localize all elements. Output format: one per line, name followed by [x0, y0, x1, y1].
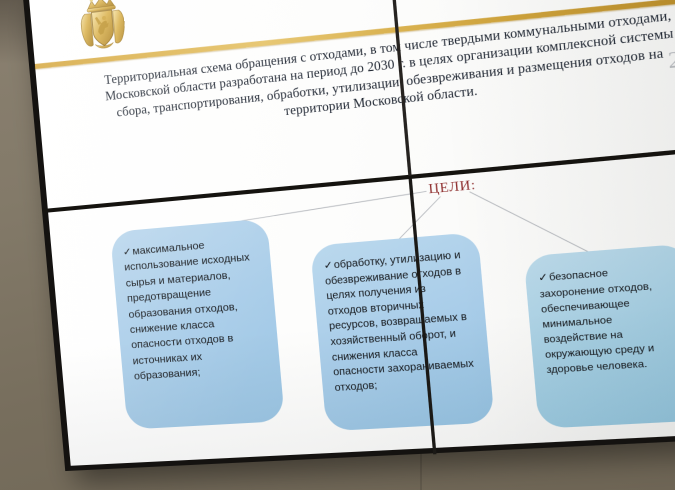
- video-wall-frame: 2 Территориальная схема обращения с отхо…: [23, 0, 675, 471]
- panel-glass-reflection: [48, 183, 440, 466]
- video-wall[interactable]: 2 Территориальная схема обращения с отхо…: [23, 0, 675, 471]
- display-panel-bottom-right[interactable]: [420, 155, 675, 447]
- panel-glass-reflection: [399, 0, 675, 179]
- display-panel-top-right[interactable]: [399, 0, 675, 179]
- video-wall-panel-grid: [29, 0, 675, 466]
- display-panel-bottom-left[interactable]: [48, 183, 440, 466]
- panel-glass-reflection: [420, 155, 675, 447]
